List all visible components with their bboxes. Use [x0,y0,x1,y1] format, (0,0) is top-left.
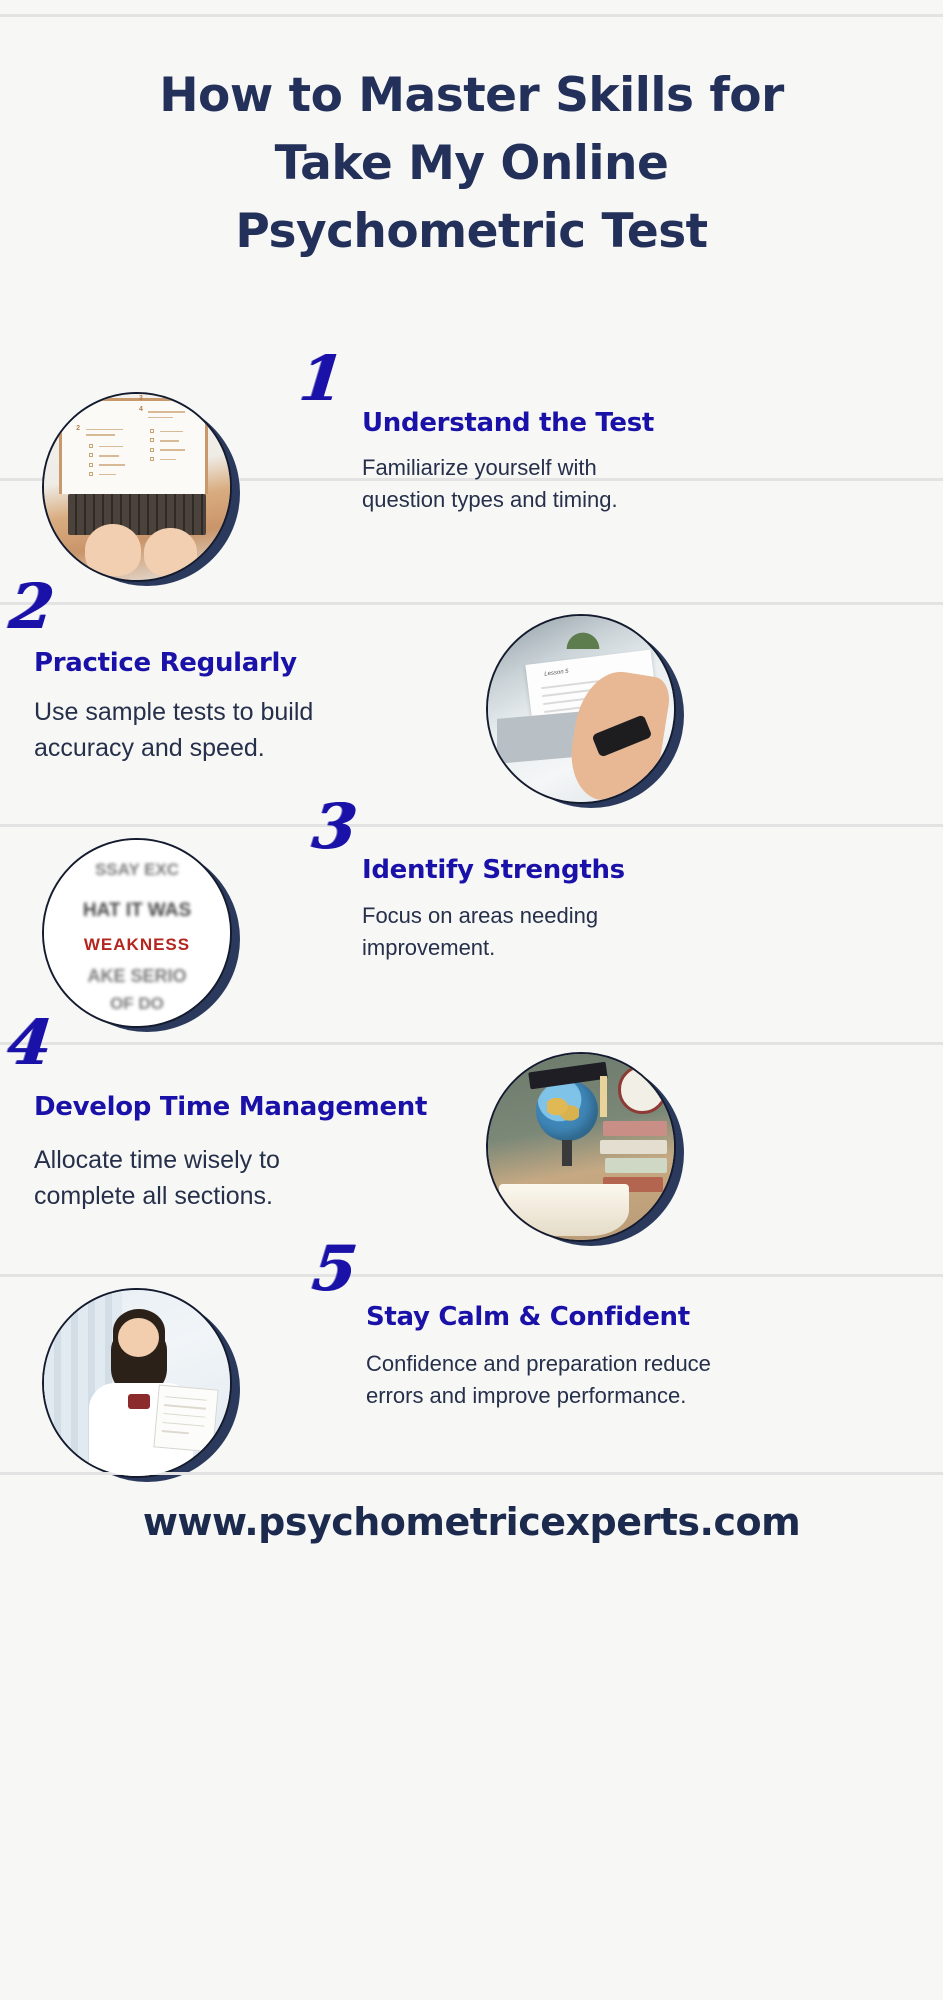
step-heading-5: Stay Calm & Confident [366,1302,806,1332]
book-graphic [600,1140,667,1155]
blur-text-focus-weakness: WEAKNESS [44,935,230,955]
step-description-1: Familiarize yourself with question types… [362,452,672,516]
title-line-3: Psychometric Test [0,198,943,266]
book-graphic [603,1121,666,1136]
hands-reviewing-paper-photo: Lesson 5 [486,614,676,804]
step-description-4: Allocate time wisely to complete all sec… [34,1142,364,1214]
step-heading-4: Develop Time Management [34,1092,484,1122]
step-number-5: 5 [310,1238,360,1300]
divider-top [0,14,943,17]
exam-screen-graphic: 2 4 3 [59,398,208,495]
step-number-4: 4 [5,1012,55,1074]
globe-graphic [536,1080,597,1141]
divider-step-4 [0,1042,943,1045]
bow-tie-graphic [128,1394,150,1409]
face-graphic [118,1318,159,1357]
alarm-clock-graphic [618,1065,666,1113]
step-number-1: 1 [297,348,347,410]
divider-step-3 [0,824,943,827]
step-heading-3: Identify Strengths [362,855,792,885]
title-line-2: Take My Online [0,130,943,198]
open-book-graphic [499,1184,629,1236]
blur-text-row-5: OF DO [44,994,230,1014]
globe-graduation-cap-books-photo [486,1052,676,1242]
laptop-online-exam-photo: 2 4 3 [42,392,232,582]
website-footer: www.psychometricexperts.com [0,1500,943,1544]
hand-right-graphic [144,528,196,576]
result-sheet-graphic [153,1384,218,1452]
page-title: How to Master Skills for Take My Online … [0,62,943,266]
smiling-student-with-result-photo [42,1288,232,1478]
blur-text-row-2: HAT IT WAS [44,900,230,922]
divider-step-2 [0,602,943,605]
step-number-3: 3 [310,796,360,858]
infographic-page: How to Master Skills for Take My Online … [0,0,943,2000]
book-graphic [605,1158,666,1173]
globe-stand-graphic [562,1140,571,1166]
step-heading-2: Practice Regularly [34,648,454,678]
hand-left-graphic [85,524,141,576]
plant-graphic [555,620,611,650]
step-number-2: 2 [7,576,57,638]
step-description-2: Use sample tests to build accuracy and s… [34,694,374,766]
keyboard-graphic [68,494,206,535]
paper-caption: Lesson 5 [544,669,569,678]
divider-step-5 [0,1274,943,1277]
step-description-3: Focus on areas needing improvement. [362,900,682,964]
blur-text-row-4: AKE SERIO [44,966,230,987]
step-heading-1: Understand the Test [362,408,792,438]
blur-text-row-1: SSAY EXC [44,860,230,880]
weakness-blurred-text-photo: SSAY EXC HAT IT WAS WEAKNESS AKE SERIO O… [42,838,232,1028]
tassel-graphic [600,1076,607,1117]
title-line-1: How to Master Skills for [0,62,943,130]
step-description-5: Confidence and preparation reduce errors… [366,1348,716,1412]
